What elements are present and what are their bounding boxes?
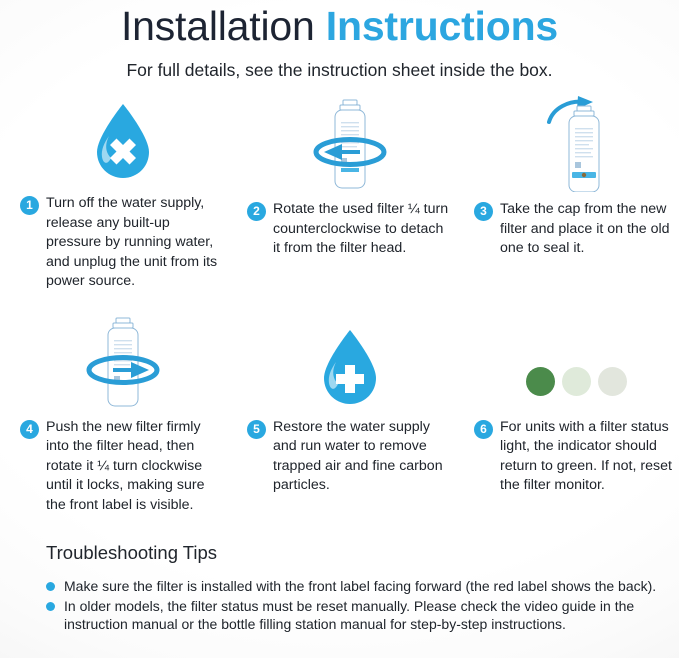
status-dot-gray-pale bbox=[598, 367, 627, 396]
step-5-number-badge: 5 bbox=[247, 420, 266, 439]
step-4-text-block: 4 Push the new filter firmly into the fi… bbox=[20, 418, 225, 516]
page-header: Installation Instructions For full detai… bbox=[0, 0, 679, 82]
installation-instructions-page: Installation Instructions For full detai… bbox=[0, 0, 679, 658]
page-title-light: Installation bbox=[121, 3, 315, 49]
page-title-bold: Instructions bbox=[326, 3, 558, 49]
status-dot-green-pale bbox=[562, 367, 591, 396]
filter-cartridge-rotate-counterclockwise-icon bbox=[302, 96, 398, 192]
step-2-number-badge: 2 bbox=[247, 202, 266, 221]
step-3-art bbox=[474, 96, 679, 194]
step-6-text-block: 6 For units with a filter status light, … bbox=[474, 418, 679, 496]
step-6-number-badge: 6 bbox=[474, 420, 493, 439]
step-2-art bbox=[247, 96, 452, 194]
steps-row-2: 4 Push the new filter firmly into the fi… bbox=[0, 314, 679, 516]
tip-text: Make sure the filter is installed with t… bbox=[64, 577, 656, 596]
tip-text: In older models, the filter status must … bbox=[64, 597, 658, 634]
step-6-art bbox=[474, 314, 679, 412]
step-1-description: Turn off the water supply, release any b… bbox=[46, 194, 225, 292]
step-1-text-block: 1 Turn off the water supply, release any… bbox=[20, 194, 225, 292]
troubleshooting-tips-list: Make sure the filter is installed with t… bbox=[46, 577, 658, 634]
step-5-text-block: 5 Restore the water supply and run water… bbox=[247, 418, 452, 496]
step-1-number-badge: 1 bbox=[20, 196, 39, 215]
status-light-dots-icon bbox=[474, 367, 679, 410]
step-2: 2 Rotate the used filter ¼ turn counterc… bbox=[247, 96, 452, 292]
troubleshooting-section: Troubleshooting Tips Make sure the filte… bbox=[46, 541, 658, 635]
step-1: 1 Turn off the water supply, release any… bbox=[20, 96, 225, 292]
step-4-description: Push the new filter firmly into the filt… bbox=[46, 418, 225, 516]
troubleshooting-title: Troubleshooting Tips bbox=[46, 541, 658, 565]
step-4-art bbox=[20, 314, 225, 412]
water-drop-x-icon bbox=[86, 100, 160, 186]
step-2-text-block: 2 Rotate the used filter ¼ turn counterc… bbox=[247, 200, 452, 259]
step-4: 4 Push the new filter firmly into the fi… bbox=[20, 314, 225, 516]
steps-grid: 1 Turn off the water supply, release any… bbox=[0, 96, 679, 515]
status-dot-green-active bbox=[526, 367, 555, 396]
step-3-description: Take the cap from the new filter and pla… bbox=[500, 200, 679, 259]
step-6-description: For units with a filter status light, th… bbox=[500, 418, 679, 496]
step-3-text-block: 3 Take the cap from the new filter and p… bbox=[474, 200, 679, 259]
page-title: Installation Instructions bbox=[0, 2, 679, 50]
step-3-number-badge: 3 bbox=[474, 202, 493, 221]
filter-cartridge-cap-arrow-icon bbox=[529, 96, 625, 192]
page-subtitle: For full details, see the instruction sh… bbox=[0, 58, 679, 82]
water-drop-plus-icon bbox=[313, 324, 387, 410]
bullet-icon bbox=[46, 602, 55, 611]
step-1-art bbox=[20, 96, 225, 188]
step-3: 3 Take the cap from the new filter and p… bbox=[474, 96, 679, 292]
step-5: 5 Restore the water supply and run water… bbox=[247, 314, 452, 516]
list-item: In older models, the filter status must … bbox=[46, 597, 658, 634]
list-item: Make sure the filter is installed with t… bbox=[46, 577, 658, 596]
filter-cartridge-rotate-clockwise-icon bbox=[75, 314, 171, 410]
bullet-icon bbox=[46, 582, 55, 591]
step-4-number-badge: 4 bbox=[20, 420, 39, 439]
step-6: 6 For units with a filter status light, … bbox=[474, 314, 679, 516]
step-5-art bbox=[247, 314, 452, 412]
step-5-description: Restore the water supply and run water t… bbox=[273, 418, 452, 496]
step-2-description: Rotate the used filter ¼ turn counterclo… bbox=[273, 200, 452, 259]
steps-row-1: 1 Turn off the water supply, release any… bbox=[0, 96, 679, 292]
